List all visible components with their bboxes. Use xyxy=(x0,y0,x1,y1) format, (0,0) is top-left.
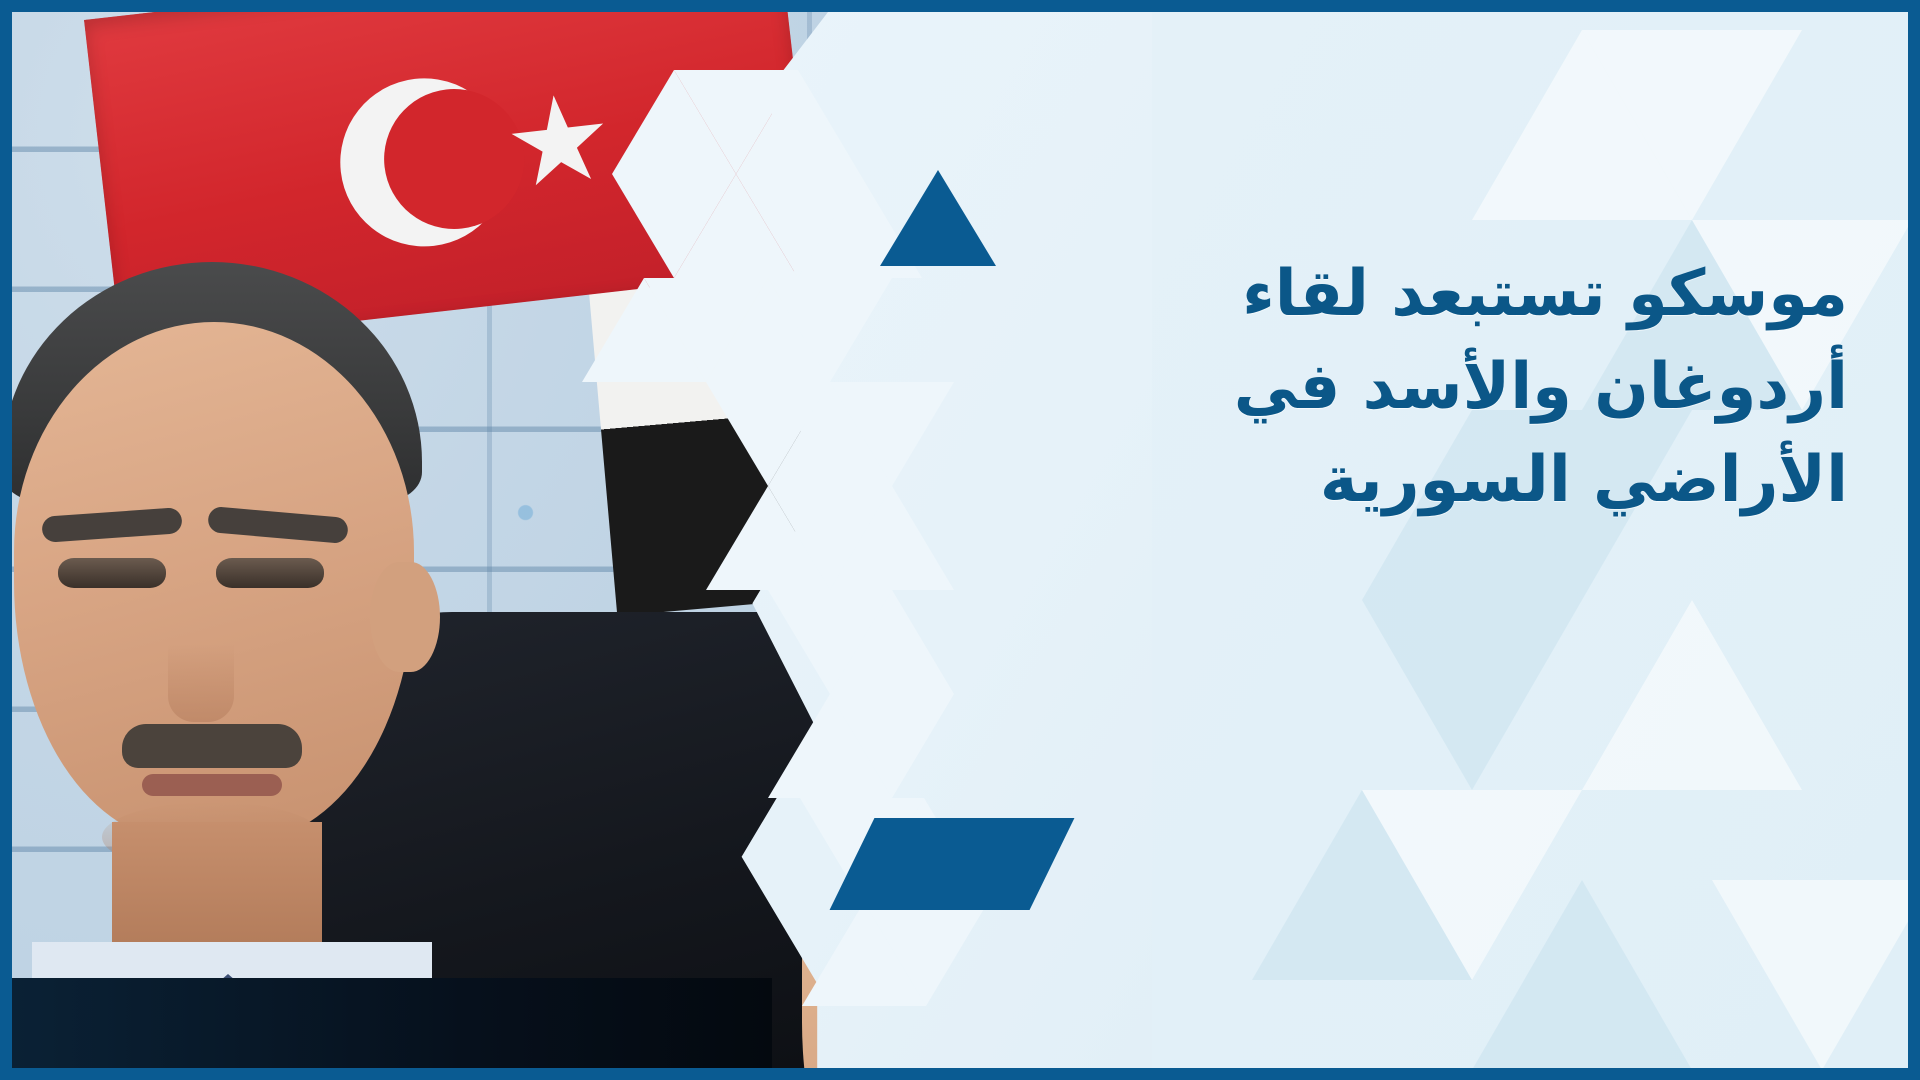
crescent-icon xyxy=(331,69,517,255)
photo-bottom-shadow xyxy=(12,978,772,1068)
assad-moustache xyxy=(122,724,302,768)
assad-nose xyxy=(168,592,234,722)
triangle-accent-icon xyxy=(880,170,996,266)
headline-line-1: موسكو تستبعد لقاء xyxy=(1088,248,1848,341)
headline-line-3: الأراضي السورية xyxy=(1088,434,1848,527)
assad-eye-left xyxy=(58,558,166,588)
news-graphic-card: موسكو تستبعد لقاء أردوغان والأسد في الأر… xyxy=(0,0,1920,1080)
headline-line-2: أردوغان والأسد في xyxy=(1088,341,1848,434)
assad-eye-right xyxy=(216,558,324,588)
page-title: موسكو تستبعد لقاء أردوغان والأسد في الأر… xyxy=(1088,248,1848,526)
card-canvas: موسكو تستبعد لقاء أردوغان والأسد في الأر… xyxy=(12,12,1908,1068)
syria-flag-star xyxy=(669,285,738,354)
assad-mouth xyxy=(142,774,282,796)
assad-ear xyxy=(370,562,440,672)
assad-portrait xyxy=(12,262,532,1068)
photo-collage xyxy=(12,12,892,1068)
